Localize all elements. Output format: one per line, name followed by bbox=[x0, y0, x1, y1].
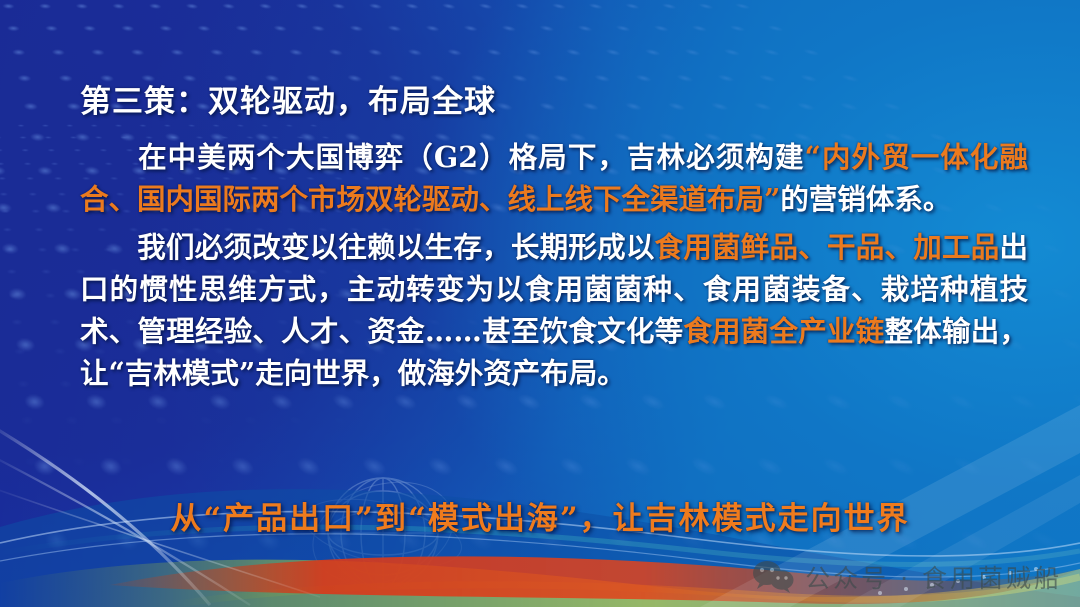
paragraph-1-run-3: 的营销体系。 bbox=[780, 182, 951, 216]
paragraph-2-run-1: 我们必须改变以往赖以生存，长期形成以 bbox=[137, 230, 655, 264]
paragraph-2-run-2-highlight: 食用菌鲜品、干品、加工品 bbox=[655, 230, 1000, 264]
watermark: 公众号 · 食用菌贼船 bbox=[751, 559, 1062, 595]
slide-content: 第三策：双轮驱动，布局全球 在中美两个大国博弈（G2）格局下，吉林必须构建“内外… bbox=[0, 0, 1080, 607]
wechat-icon bbox=[751, 560, 795, 594]
paragraph-1-run-1: 在中美两个大国博弈（G2）格局下，吉林必须构建 bbox=[137, 140, 805, 174]
presentation-slide: 第三策：双轮驱动，布局全球 在中美两个大国博弈（G2）格局下，吉林必须构建“内外… bbox=[0, 0, 1080, 607]
page-title: 第三策：双轮驱动，布局全球 bbox=[80, 76, 496, 121]
watermark-text: 公众号 · 食用菌贼船 bbox=[805, 559, 1062, 595]
paragraph-1: 在中美两个大国博弈（G2）格局下，吉林必须构建“内外贸一体化融合、国内国际两个市… bbox=[80, 136, 1028, 220]
body-text-block: 在中美两个大国博弈（G2）格局下，吉林必须构建“内外贸一体化融合、国内国际两个市… bbox=[80, 136, 1028, 394]
paragraph-2-run-4-highlight: 食用菌全产业链 bbox=[683, 314, 884, 348]
conclusion-statement: 从“产品出口”到“模式出海”，让吉林模式走向世界 bbox=[0, 493, 1080, 538]
paragraph-2: 我们必须改变以往赖以生存，长期形成以食用菌鲜品、干品、加工品出口的惯性思维方式，… bbox=[80, 226, 1028, 394]
